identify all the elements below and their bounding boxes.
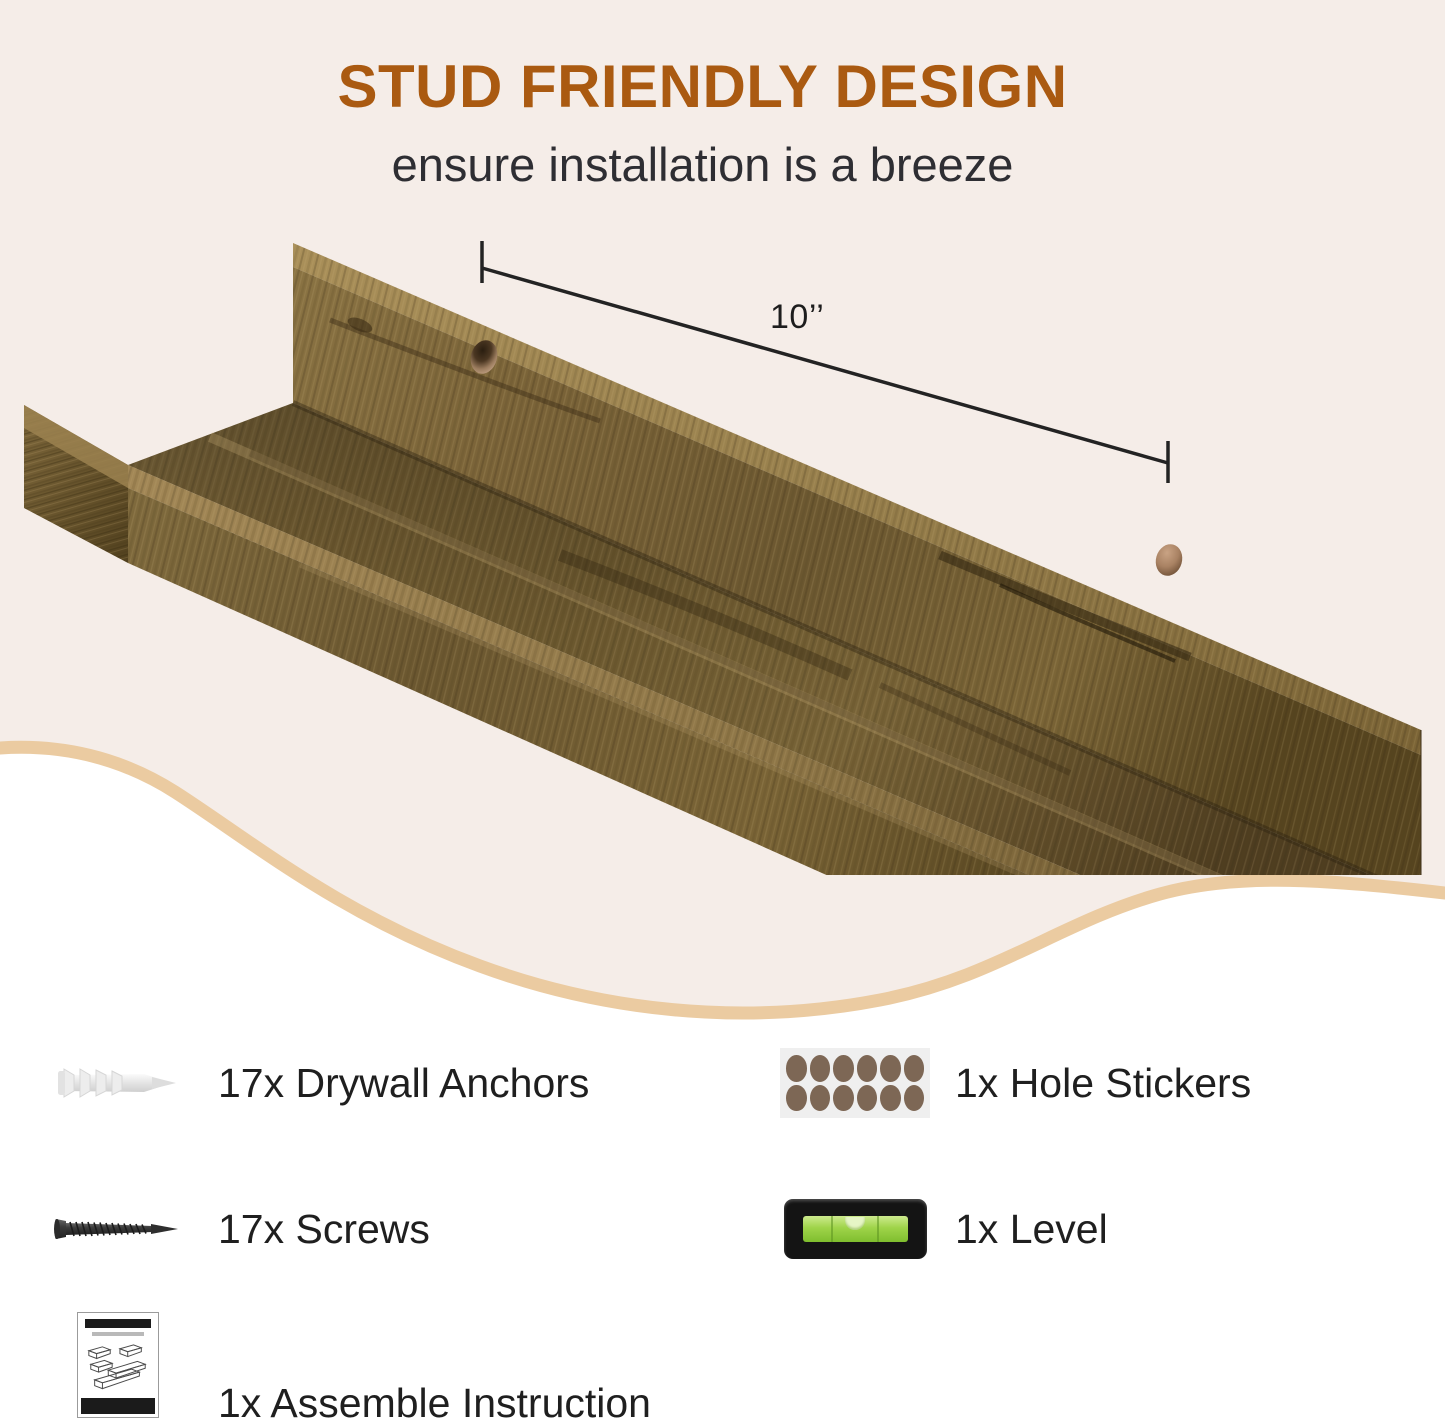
hole-plug-icon	[1152, 541, 1186, 579]
drywall-anchor-glyph	[56, 1059, 180, 1107]
manual-header-bar	[85, 1319, 151, 1328]
page-title: STUD FRIENDLY DESIGN	[0, 55, 1405, 119]
part-label-hole-stickers: 1x Hole Stickers	[955, 1063, 1251, 1104]
part-label-level: 1x Level	[955, 1209, 1108, 1250]
part-row-assemble-instruction: 1x Assemble Instruction	[18, 1310, 651, 1420]
sticker-dot	[786, 1055, 807, 1082]
part-row-hole-stickers: 1x Hole Stickers	[755, 1028, 1251, 1138]
sticker-dot	[857, 1085, 878, 1112]
page-subtitle: ensure installation is a breeze	[0, 139, 1405, 191]
sticker-dot	[786, 1085, 807, 1112]
sticker-dot	[904, 1085, 925, 1112]
part-row-level: 1x Level	[755, 1174, 1108, 1284]
manual-booklet	[77, 1312, 159, 1418]
product-image	[0, 225, 1445, 875]
level-vial	[803, 1216, 908, 1242]
part-row-screws: 17x Screws	[18, 1174, 430, 1284]
part-label-screws: 17x Screws	[218, 1209, 430, 1250]
sticker-dot	[810, 1085, 831, 1112]
sticker-sheet	[780, 1048, 930, 1118]
vial-bubble	[845, 1217, 865, 1230]
drywall-anchor-icon	[18, 1028, 218, 1138]
vial-mark-left	[831, 1216, 833, 1242]
sticker-dot	[880, 1085, 901, 1112]
shelf-illustration	[0, 225, 1445, 875]
sticker-dot	[857, 1055, 878, 1082]
sticker-dot	[810, 1055, 831, 1082]
vial-mark-right	[877, 1216, 879, 1242]
sticker-dot	[833, 1085, 854, 1112]
sticker-dot	[833, 1055, 854, 1082]
part-label-drywall-anchors: 17x Drywall Anchors	[218, 1063, 589, 1104]
level-body	[784, 1199, 927, 1259]
part-label-assemble-instruction: 1x Assemble Instruction	[218, 1383, 651, 1424]
hole-stickers-icon	[755, 1028, 955, 1138]
part-row-drywall-anchors: 17x Drywall Anchors	[18, 1028, 589, 1138]
screw-glyph	[53, 1211, 183, 1247]
manual-diagram	[83, 1341, 153, 1395]
headline-block: STUD FRIENDLY DESIGN ensure installation…	[0, 55, 1445, 190]
dimension-label: 10’’	[770, 298, 824, 337]
manual-subheader-line	[92, 1332, 144, 1336]
screw-icon	[18, 1174, 218, 1284]
sticker-dot	[880, 1055, 901, 1082]
parts-list: 17x Drywall Anchors 1x Hole Stickers	[0, 1022, 1445, 1423]
bubble-level-icon	[755, 1174, 955, 1284]
manual-footer-bar	[81, 1398, 155, 1414]
instruction-manual-icon	[18, 1310, 218, 1420]
sticker-dot	[904, 1055, 925, 1082]
